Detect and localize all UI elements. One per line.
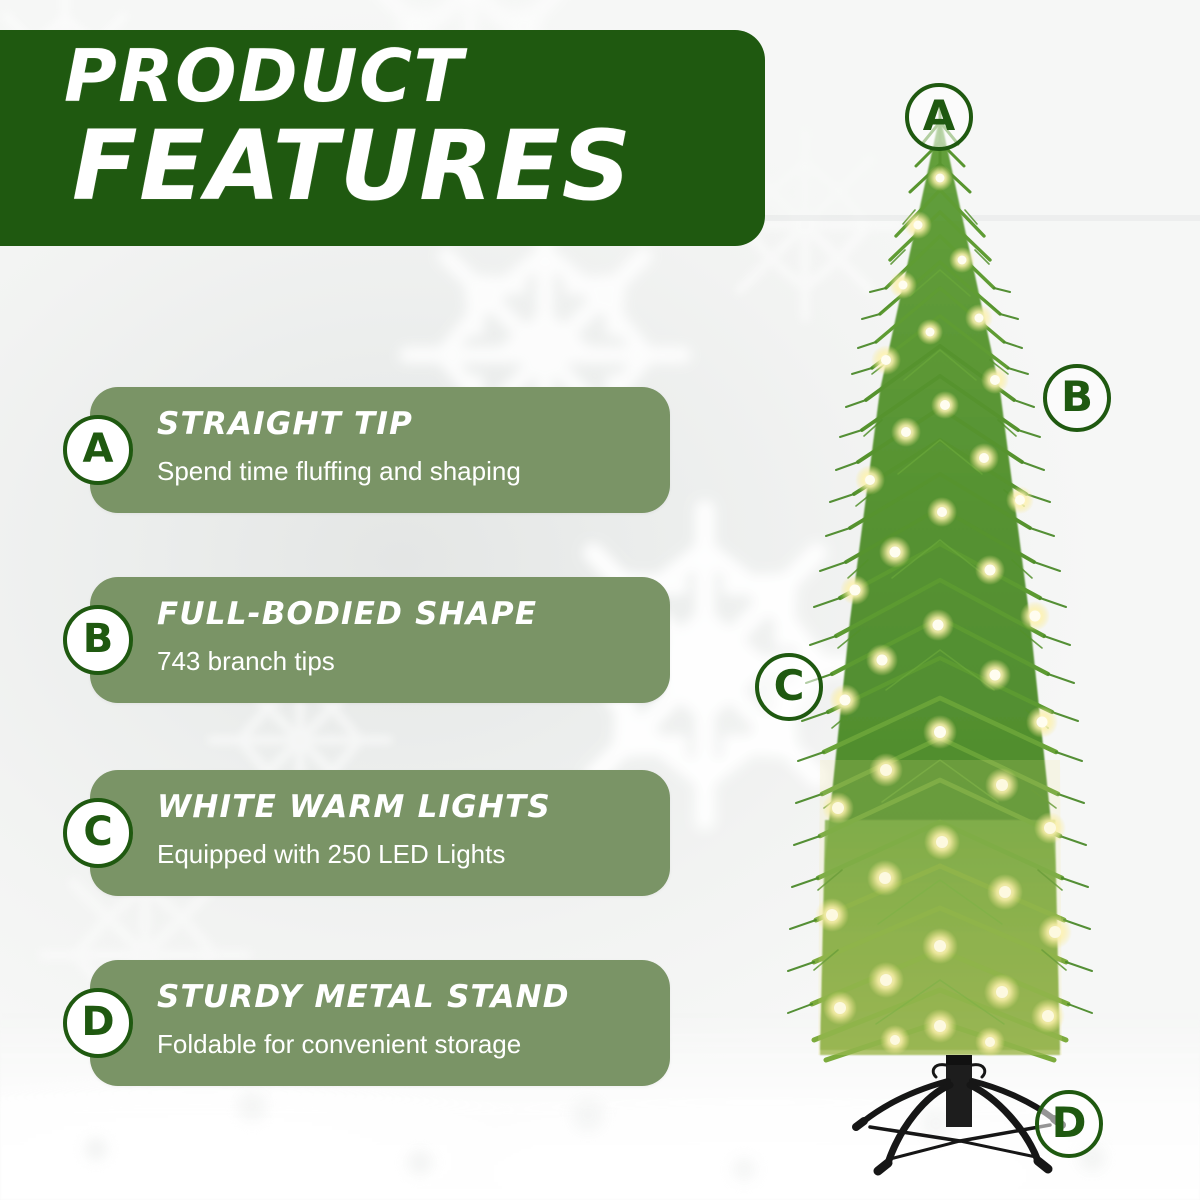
feature-letter: C xyxy=(83,812,112,852)
feature-title: FULL-BODIED SHAPE xyxy=(157,597,652,633)
feature-letter: B xyxy=(83,619,114,659)
callout-letter: B xyxy=(1061,376,1093,418)
callout-letter: A xyxy=(923,95,956,137)
callout-badge-b: B xyxy=(1043,364,1111,432)
feature-text: FULL-BODIED SHAPE 743 branch tips xyxy=(157,597,652,677)
feature-description: Spend time fluffing and shaping xyxy=(157,456,652,487)
feature-list: A STRAIGHT TIP Spend time fluffing and s… xyxy=(0,0,700,1200)
feature-item-straight-tip[interactable]: A STRAIGHT TIP Spend time fluffing and s… xyxy=(90,387,670,513)
feature-text: STURDY METAL STAND Foldable for convenie… xyxy=(157,980,652,1060)
feature-badge-d: D xyxy=(63,988,133,1058)
feature-description: Equipped with 250 LED Lights xyxy=(157,839,652,870)
feature-item-full-bodied-shape[interactable]: B FULL-BODIED SHAPE 743 branch tips xyxy=(90,577,670,703)
feature-title: STRAIGHT TIP xyxy=(157,407,652,443)
callout-letter: D xyxy=(1052,1102,1087,1144)
feature-title: STURDY METAL STAND xyxy=(157,980,652,1016)
feature-letter: A xyxy=(83,429,114,469)
feature-badge-a: A xyxy=(63,415,133,485)
feature-badge-c: C xyxy=(63,798,133,868)
callout-letter: C xyxy=(774,665,805,707)
feature-description: Foldable for convenient storage xyxy=(157,1029,652,1060)
feature-text: WHITE WARM LIGHTS Equipped with 250 LED … xyxy=(157,790,652,870)
feature-item-white-warm-lights[interactable]: C WHITE WARM LIGHTS Equipped with 250 LE… xyxy=(90,770,670,896)
callout-badge-c: C xyxy=(755,653,823,721)
feature-item-sturdy-metal-stand[interactable]: D STURDY METAL STAND Foldable for conven… xyxy=(90,960,670,1086)
feature-title: WHITE WARM LIGHTS xyxy=(157,790,652,826)
christmas-tree-image xyxy=(690,60,1200,1200)
callout-badge-d: D xyxy=(1035,1090,1103,1158)
feature-letter: D xyxy=(81,1002,114,1042)
callout-badge-a: A xyxy=(905,83,973,151)
feature-badge-b: B xyxy=(63,605,133,675)
feature-text: STRAIGHT TIP Spend time fluffing and sha… xyxy=(157,407,652,487)
infographic-canvas: PRODUCT FEATURES A STRAIGHT TIP Spend ti… xyxy=(0,0,1200,1200)
feature-description: 743 branch tips xyxy=(157,646,652,677)
